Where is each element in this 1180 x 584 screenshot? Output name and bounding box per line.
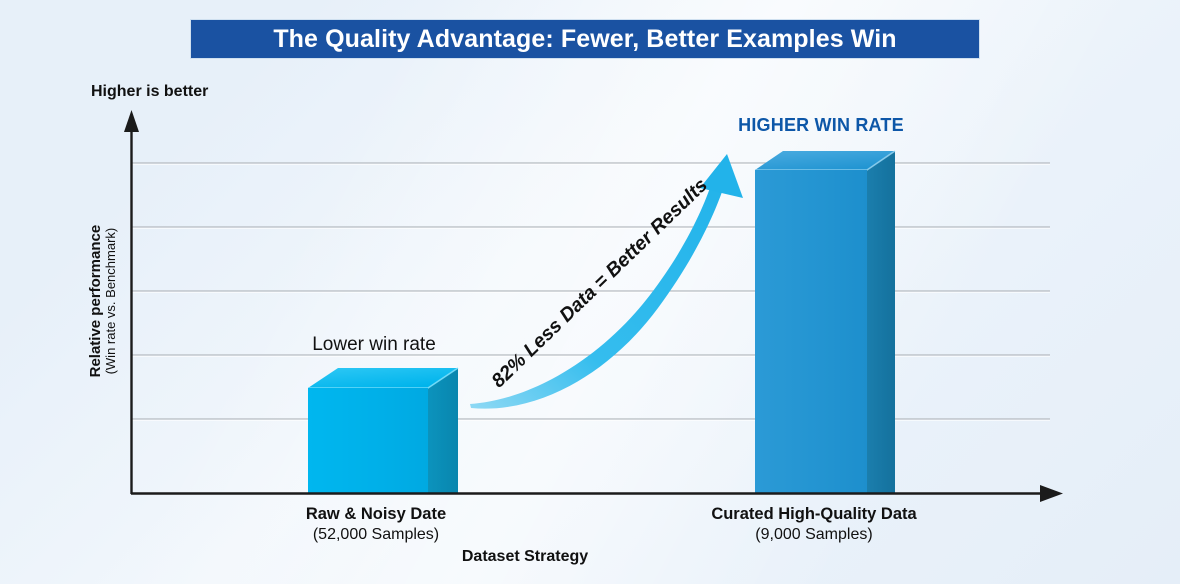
higher-win-rate-label: HIGHER WIN RATE — [681, 115, 961, 136]
x-tick-name-1: Curated High-Quality Data — [686, 504, 942, 525]
lower-win-rate-label: Lower win rate — [243, 334, 505, 356]
x-tick-count-1: (9,000 Samples) — [686, 525, 942, 545]
x-axis-label: Dataset Strategy — [0, 548, 1050, 566]
x-tick-count-0: (52,000 Samples) — [248, 525, 504, 545]
x-tick-label-0: Raw & Noisy Date (52,000 Samples) — [248, 504, 504, 546]
axis-lines — [124, 110, 1063, 502]
bar-raw-noisy-data — [308, 368, 458, 494]
x-tick-label-1: Curated High-Quality Data (9,000 Samples… — [686, 504, 942, 546]
higher-is-better-label: Higher is better — [91, 83, 208, 101]
y-axis-label-main: Relative performance — [87, 176, 104, 426]
x-tick-name-0: Raw & Noisy Date — [248, 504, 504, 525]
y-axis-label-sub: (Win rate vs. Benchmark) — [104, 176, 119, 426]
chart-canvas: The Quality Advantage: Fewer, Better Exa… — [0, 0, 1180, 584]
y-axis-label: Relative performance (Win rate vs. Bench… — [87, 176, 119, 426]
bar-curated-high-quality-data — [755, 151, 895, 494]
